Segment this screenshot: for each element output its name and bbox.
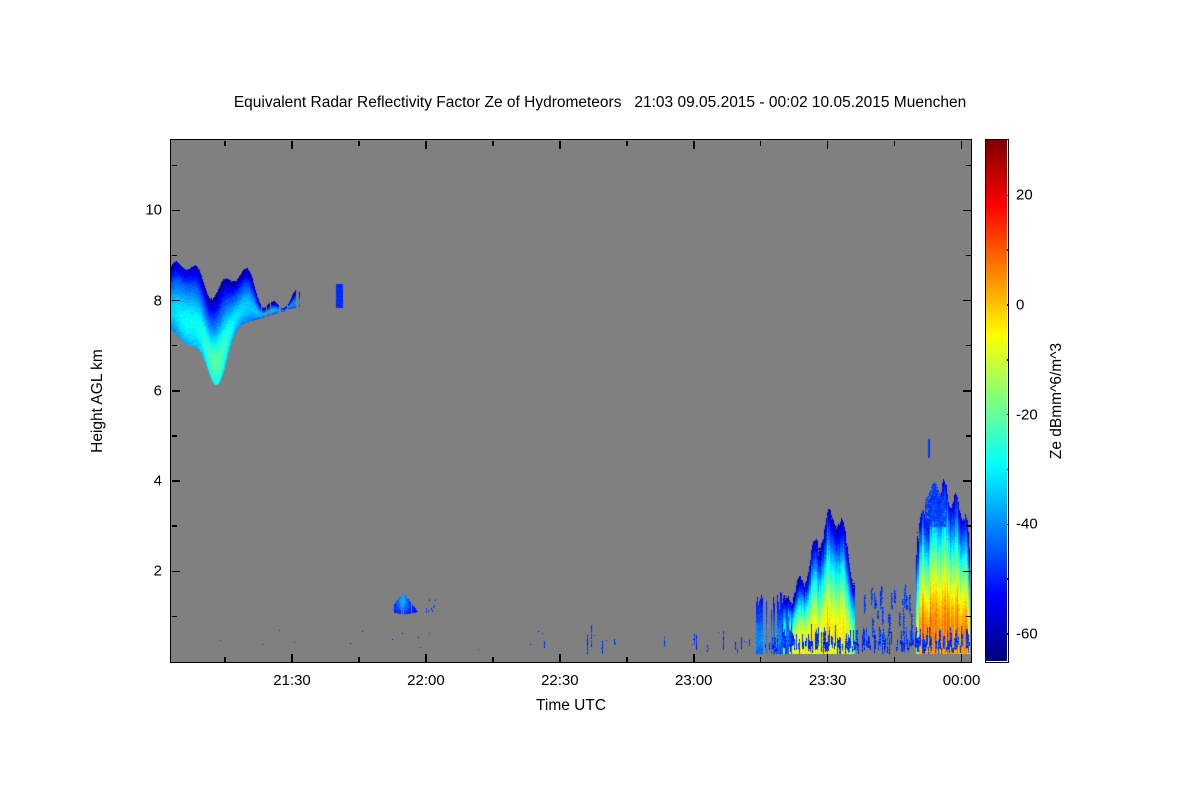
x-axis-tick	[425, 654, 427, 662]
y-axis-minor-tick	[966, 525, 971, 527]
x-axis-tick-label: 22:00	[407, 672, 445, 689]
x-axis-tick	[961, 141, 963, 149]
y-axis-minor-tick	[172, 525, 177, 527]
y-axis-tick	[963, 480, 971, 482]
radar-heatmap-canvas	[171, 140, 970, 661]
x-axis-minor-tick	[492, 657, 494, 662]
x-axis-minor-tick	[760, 657, 762, 662]
y-axis-tick	[172, 480, 180, 482]
y-axis-tick	[963, 210, 971, 212]
x-axis-tick	[827, 654, 829, 662]
x-axis-minor-tick	[358, 657, 360, 662]
colorbar-tick-label: -40	[1016, 516, 1038, 533]
x-axis-tick	[827, 141, 829, 149]
colorbar-tick-label: -20	[1016, 406, 1038, 423]
x-axis-tick-label: 22:30	[541, 672, 579, 689]
x-axis-tick	[559, 654, 561, 662]
y-axis-tick	[172, 571, 180, 573]
y-axis-tick	[172, 390, 180, 392]
x-axis-tick	[559, 141, 561, 149]
x-axis-minor-tick	[894, 141, 896, 146]
x-axis-tick	[693, 141, 695, 149]
colorbar-tick-label: 0	[1016, 297, 1024, 314]
x-axis-tick	[291, 654, 293, 662]
colorbar-title: Ze dBmm^6/m^3	[1048, 343, 1066, 459]
y-axis-minor-tick	[172, 616, 177, 618]
x-axis-tick-label: 00:00	[943, 672, 981, 689]
y-axis-minor-tick	[966, 165, 971, 167]
y-axis-tick-label: 6	[154, 382, 162, 399]
y-axis-minor-tick	[966, 345, 971, 347]
y-axis-tick	[963, 390, 971, 392]
y-axis-title: Height AGL km	[89, 349, 107, 453]
colorbar[interactable]	[985, 139, 1009, 663]
y-axis-tick-label: 10	[145, 202, 162, 219]
y-axis-tick-label: 2	[154, 563, 162, 580]
y-axis-minor-tick	[966, 255, 971, 257]
y-axis-tick	[172, 300, 180, 302]
y-axis-minor-tick	[172, 345, 177, 347]
x-axis-minor-tick	[760, 141, 762, 146]
x-axis-minor-tick	[626, 141, 628, 146]
x-axis-minor-tick	[224, 141, 226, 146]
colorbar-gradient	[986, 140, 1007, 661]
colorbar-tick-label: -60	[1016, 626, 1038, 643]
x-axis-minor-tick	[358, 141, 360, 146]
x-axis-minor-tick	[626, 657, 628, 662]
colorbar-tick-label: 20	[1016, 187, 1033, 204]
page-title: Equivalent Radar Reflectivity Factor Ze …	[0, 94, 1200, 112]
y-axis-tick	[963, 300, 971, 302]
radar-reflectivity-figure: Equivalent Radar Reflectivity Factor Ze …	[0, 0, 1200, 800]
x-axis-minor-tick	[224, 657, 226, 662]
x-axis-title: Time UTC	[170, 697, 972, 715]
x-axis-tick-label: 21:30	[273, 672, 311, 689]
y-axis-tick	[172, 210, 180, 212]
y-axis-minor-tick	[172, 165, 177, 167]
x-axis-tick-label: 23:30	[809, 672, 847, 689]
y-axis-tick-label: 8	[154, 292, 162, 309]
y-axis-minor-tick	[172, 255, 177, 257]
plot-area[interactable]	[170, 139, 972, 663]
x-axis-minor-tick	[492, 141, 494, 146]
x-axis-minor-tick	[894, 657, 896, 662]
x-axis-tick	[425, 141, 427, 149]
y-axis-minor-tick	[966, 616, 971, 618]
y-axis-minor-tick	[172, 435, 177, 437]
y-axis-tick	[963, 571, 971, 573]
x-axis-tick	[961, 654, 963, 662]
x-axis-tick	[291, 141, 293, 149]
y-axis-minor-tick	[966, 435, 971, 437]
x-axis-tick-label: 23:00	[675, 672, 713, 689]
x-axis-tick	[693, 654, 695, 662]
y-axis-tick-label: 4	[154, 473, 162, 490]
